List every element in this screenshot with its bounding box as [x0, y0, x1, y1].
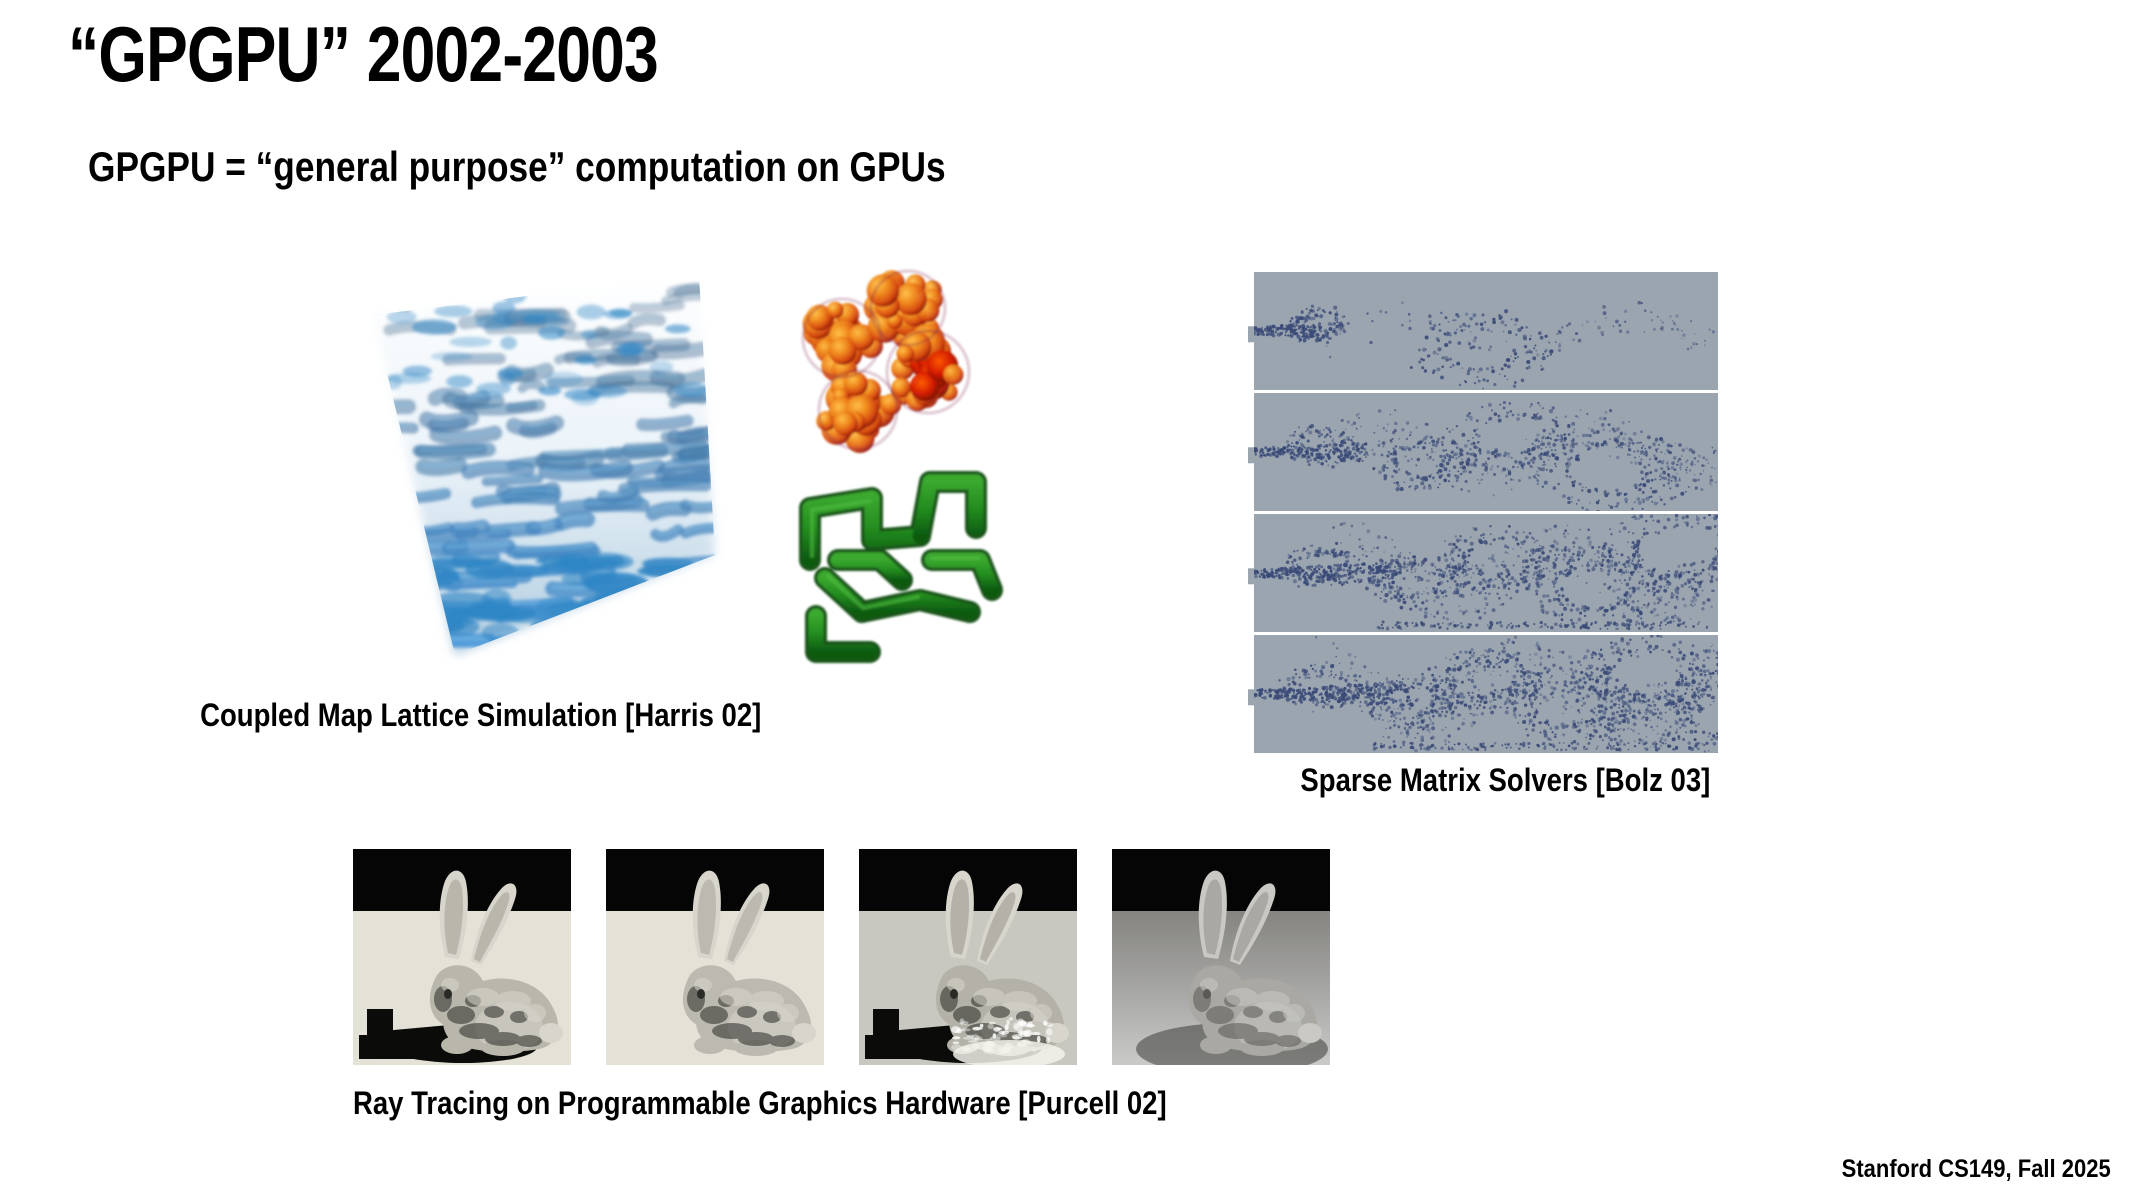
- green-tube-molecule: [810, 482, 992, 652]
- page-title: “GPGPU” 2002-2003: [68, 14, 658, 96]
- slide-footer: Stanford CS149, Fall 2025: [1842, 1155, 2111, 1184]
- sparse-matrix-panel: [1248, 634, 1718, 757]
- bunny-panel: [859, 849, 1077, 1065]
- caption-coupled-map-lattice: Coupled Map Lattice Simulation [Harris 0…: [200, 697, 656, 734]
- sparse-matrix-panel: [1248, 272, 1718, 390]
- slide-canvas: “GPGPU” 2002-2003 GPGPU = “general purpo…: [0, 0, 2133, 1200]
- bunny-panel: [606, 849, 824, 1065]
- diffuse-bunny: [606, 849, 824, 1065]
- molecule-render: [780, 260, 1020, 680]
- caption-sparse-matrix: Sparse Matrix Solvers [Bolz 03]: [1300, 762, 1661, 799]
- caption-ray-tracing: Ray Tracing on Programmable Graphics Har…: [353, 1085, 1167, 1122]
- orange-protein-cluster: [803, 270, 969, 453]
- sparse-matrix-panel: [1248, 505, 1718, 632]
- slide-subtitle: GPGPU = “general purpose” computation on…: [88, 143, 946, 191]
- bunny-panel: [353, 849, 571, 1065]
- ray-tracing-figure: [353, 849, 1358, 1065]
- coupled-map-lattice-figure: [355, 255, 785, 675]
- shadow-ray-bunny: [353, 849, 571, 1065]
- bunny-panel: [1112, 849, 1330, 1065]
- sparse-matrix-figure: [1248, 272, 1718, 757]
- shadow-caustics-bunny: [859, 849, 1077, 1065]
- path-traced-bunny: [1112, 849, 1330, 1065]
- coupled-map-lattice-render: [355, 255, 785, 675]
- sparse-matrix-panels: [1248, 272, 1718, 757]
- sparse-matrix-panel: [1248, 393, 1718, 514]
- molecule-figures: [780, 260, 1020, 680]
